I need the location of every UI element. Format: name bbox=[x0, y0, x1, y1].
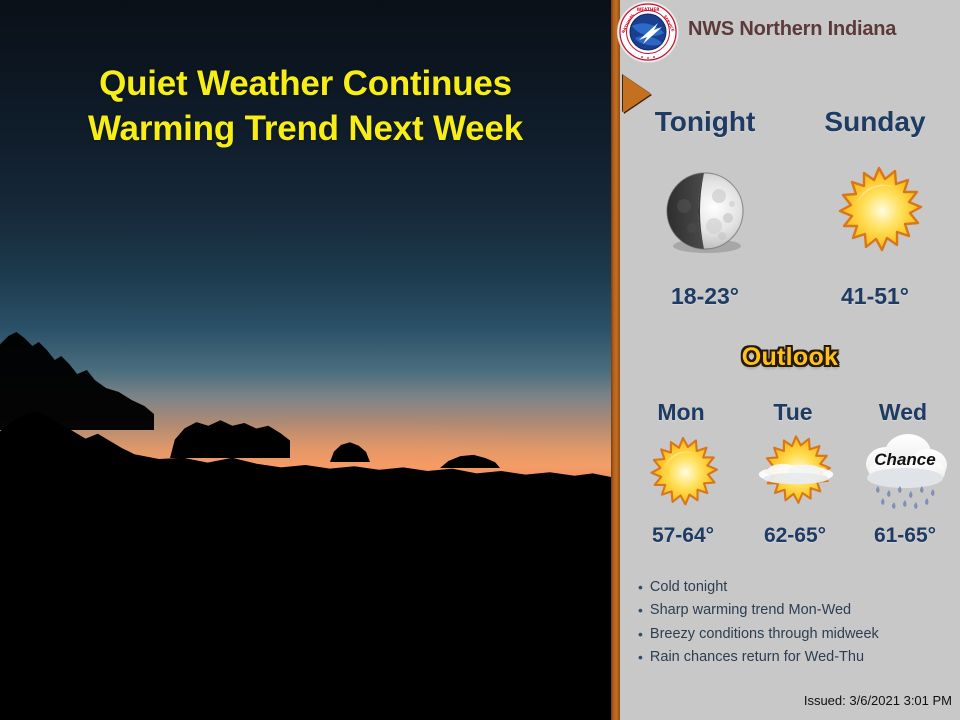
sun-behind-cloud-icon bbox=[755, 434, 837, 510]
forecast-label-tonight: Tonight bbox=[620, 106, 790, 138]
rain-cloud-icon: Chance bbox=[856, 428, 954, 514]
bullet-text: Sharp warming trend Mon-Wed bbox=[650, 599, 851, 622]
headline-line-1: Quiet Weather Continues bbox=[0, 62, 611, 107]
sunset-photo: Quiet Weather Continues Warming Trend Ne… bbox=[0, 0, 611, 720]
bullet-text: Rain chances return for Wed-Thu bbox=[650, 646, 864, 669]
outlook-temp-mon: 57-64° bbox=[626, 524, 740, 548]
sun-icon bbox=[645, 434, 721, 510]
sun-icon bbox=[832, 164, 926, 256]
outlook-label-tue: Tue bbox=[738, 399, 848, 426]
vertical-divider bbox=[611, 0, 620, 720]
list-item: • Breezy conditions through midweek bbox=[634, 623, 954, 646]
headline: Quiet Weather Continues Warming Trend Ne… bbox=[0, 62, 611, 152]
bullet-text: Breezy conditions through midweek bbox=[650, 623, 879, 646]
outlook-label-mon: Mon bbox=[626, 399, 736, 426]
svg-text:WEATHER: WEATHER bbox=[637, 7, 661, 12]
bullet-text: Cold tonight bbox=[650, 576, 727, 599]
outlook-temp-wed: 61-65° bbox=[848, 524, 960, 548]
half-moon-icon bbox=[662, 166, 748, 256]
issued-timestamp: Issued: 3/6/2021 3:01 PM bbox=[804, 693, 952, 708]
headline-line-2: Warming Trend Next Week bbox=[0, 107, 611, 152]
list-item: • Cold tonight bbox=[634, 576, 954, 599]
nws-logo-icon: WEATHER NATIONAL SERVICE bbox=[618, 2, 678, 62]
list-item: • Rain chances return for Wed-Thu bbox=[634, 646, 954, 669]
outlook-label-wed: Wed bbox=[848, 399, 958, 426]
outlook-temp-tue: 62-65° bbox=[738, 524, 852, 548]
forecast-temp-tonight: 18-23° bbox=[620, 283, 790, 310]
forecast-label-sunday: Sunday bbox=[790, 106, 960, 138]
bullet-marker-icon: • bbox=[638, 623, 643, 646]
forecast-temp-sunday: 41-51° bbox=[790, 283, 960, 310]
panel-header: WEATHER NATIONAL SERVICE NWS Northern In… bbox=[620, 0, 960, 66]
bullet-marker-icon: • bbox=[638, 576, 643, 599]
chance-overlay-label: Chance bbox=[856, 450, 954, 470]
list-item: • Sharp warming trend Mon-Wed bbox=[634, 599, 954, 622]
bullet-marker-icon: • bbox=[638, 646, 643, 669]
outlook-title: Outlook bbox=[620, 343, 960, 372]
office-name: NWS Northern Indiana bbox=[688, 18, 896, 41]
weather-graphic: Quiet Weather Continues Warming Trend Ne… bbox=[0, 0, 960, 720]
bullet-marker-icon: • bbox=[638, 599, 643, 622]
foreground-field-silhouette bbox=[0, 480, 611, 720]
bullet-list: • Cold tonight • Sharp warming trend Mon… bbox=[634, 576, 954, 670]
forecast-panel: WEATHER NATIONAL SERVICE NWS Northern In… bbox=[620, 0, 960, 720]
